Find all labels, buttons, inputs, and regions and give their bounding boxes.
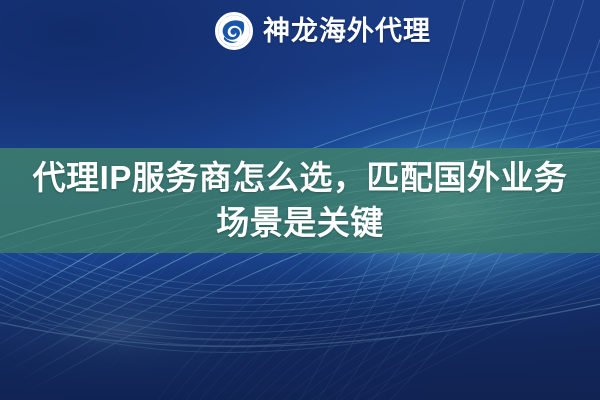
brand-logo-text: 神龙海外代理	[263, 18, 431, 45]
headline-line-1: 代理IP服务商怎么选，匹配国外业务	[33, 157, 568, 200]
swirl-dragon-circle-icon	[215, 12, 253, 50]
brand-logo[interactable]: 神龙海外代理	[215, 12, 431, 50]
promo-banner: 代理IP服务商怎么选，匹配国外业务 场景是关键 神龙海外代理	[0, 0, 600, 400]
headline-line-2: 场景是关键	[216, 202, 384, 245]
headline: 代理IP服务商怎么选，匹配国外业务 场景是关键	[0, 148, 600, 253]
